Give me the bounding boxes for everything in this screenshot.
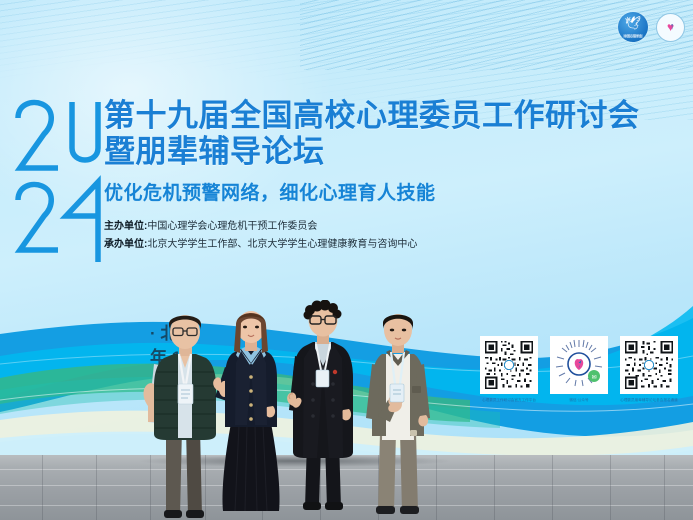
svg-text:✉: ✉ — [591, 374, 596, 381]
logo-caption-cps: 中国心理学会 — [623, 34, 643, 38]
organizer-label: 主办单位: — [104, 221, 147, 232]
year-2024-graphic — [14, 96, 106, 268]
conference-subtitle: 优化危机预警网络，细化心理育人技能 — [104, 182, 674, 206]
qr-code-center[interactable]: ✉ 微信·公众号 — [550, 336, 608, 403]
conference-title-line-1: 第十九届全国高校心理委员工作研讨会 — [104, 98, 674, 134]
qr-code-center-image: ✉ — [550, 336, 608, 394]
organizer-line: 主办单位:中国心理学会心理危机干预工作委员会 — [104, 219, 674, 235]
dove-icon: 🕊 — [625, 17, 642, 30]
backdrop-title-block: 第十九届全国高校心理委员工作研讨会 暨朋辈辅导论坛 优化危机预警网络，细化心理育… — [104, 98, 674, 253]
co-organizer-value: 北京大学学生工作部、北京大学学生心理健康教育与咨询中心 — [147, 239, 417, 250]
qr-code-group: 心理委员工作研讨会官方工作平台 — [480, 336, 678, 403]
qr-code-left-caption: 心理委员工作研讨会官方工作平台 — [480, 397, 538, 403]
co-organizer-label: 承办单位: — [104, 239, 147, 250]
logo-group: 🕊 中国心理学会 ♥ ↑ — [618, 12, 685, 42]
qr-code-left[interactable]: 心理委员工作研讨会官方工作平台 — [480, 336, 538, 403]
conference-title-line-2: 暨朋辈辅导论坛 — [104, 134, 674, 170]
figure-icon: ↑ — [670, 21, 675, 31]
qr-code-left-image — [480, 336, 538, 394]
qr-code-right[interactable]: 心理委员朋辈辅导论坛参会报名通道 — [620, 336, 678, 403]
person-4 — [352, 308, 444, 520]
wechat-official-account-icon: ✉ — [550, 336, 608, 394]
screenshot-canvas: 🕊 中国心理学会 ♥ ↑ 第十九届全国高校心理委员工作研讨会 — [0, 0, 693, 520]
chinese-psychological-society-logo: 🕊 中国心理学会 — [618, 12, 648, 42]
pku-mental-health-logo: ♥ ↑ — [656, 13, 685, 42]
qr-code-right-image — [620, 336, 678, 394]
qr-code-right-caption: 心理委员朋辈辅导论坛参会报名通道 — [620, 397, 678, 403]
co-organizer-line: 承办单位:北京大学学生工作部、北京大学学生心理健康教育与咨询中心 — [104, 237, 674, 253]
qr-code-center-caption: 微信·公众号 — [550, 397, 608, 403]
organizer-value: 中国心理学会心理危机干预工作委员会 — [147, 221, 317, 232]
